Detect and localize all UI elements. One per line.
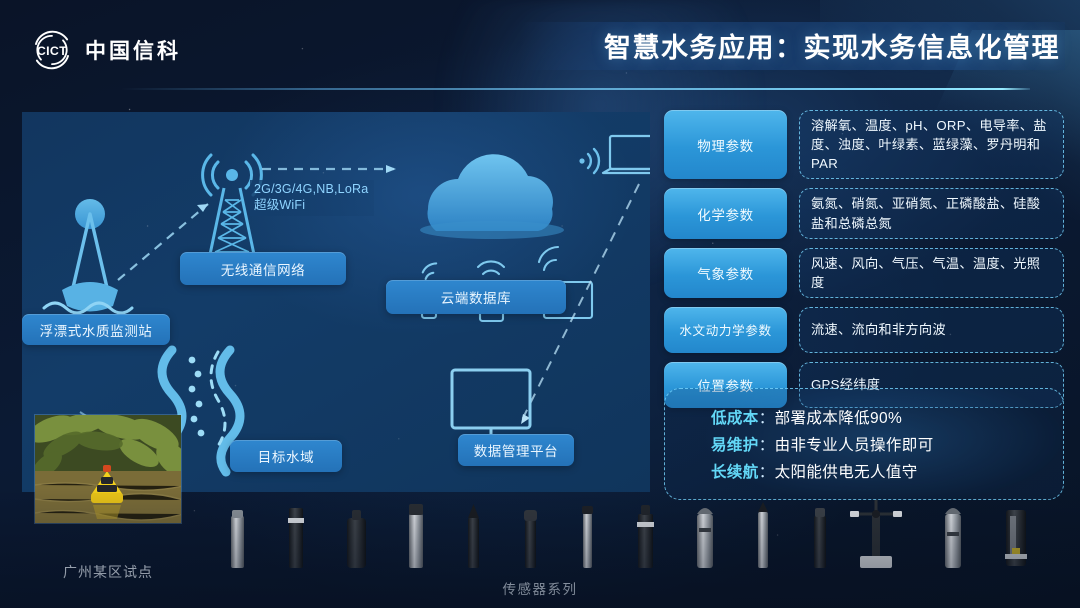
sensor-row-caption: 传感器系列 [0, 578, 1080, 598]
benefits-callout-box: 低成本 ： 部署成本降低90% 易维护 ： 由非专业人员操作即可 长续航 ： 太… [664, 388, 1064, 500]
parameter-row: 物理参数 溶解氧、温度、pH、ORP、电导率、盐度、浊度、叶绿素、蓝绿藻、罗丹明… [664, 110, 1064, 179]
parameter-row: 化学参数 氨氮、硝氮、亚硝氮、正磷酸盐、硅酸盐和总磷总氮 [664, 188, 1064, 238]
sensor-probe [814, 508, 826, 568]
sensor-probe [697, 508, 713, 568]
arrow-buoy-to-tower [197, 204, 208, 212]
sensor-probe [637, 505, 654, 568]
benefit-label-long-endurance: 长续航 [711, 460, 759, 482]
node-label-wireless-network[interactable]: 无线通信网络 [180, 252, 346, 285]
node-label-target-water[interactable]: 目标水域 [230, 440, 342, 472]
page-title: 智慧水务应用：实现水务信息化管理 [604, 26, 1060, 65]
parameter-value-chemical: 氨氮、硝氮、亚硝氮、正磷酸盐、硅酸盐和总磷总氮 [799, 188, 1064, 238]
parameter-value-hydrodynamic: 流速、流向和非方向波 [799, 307, 1064, 353]
laptop-icon [603, 136, 650, 173]
sensor-probe [347, 510, 366, 568]
benefit-label-low-cost: 低成本 [711, 406, 759, 428]
sensor-probe [582, 506, 593, 568]
svg-text:CICT: CICT [37, 44, 67, 58]
sensor-probe [945, 508, 961, 568]
monitor-icon [452, 370, 530, 444]
benefit-row-easy-maintenance: 易维护 ： 由非专业人员操作即可 [711, 433, 1063, 455]
field-trial-photo [34, 414, 182, 524]
network-tech-line-1: 2G/3G/4G,NB,LoRa [254, 182, 368, 196]
node-label-buoy-station[interactable]: 浮漂式水质监测站 [22, 314, 170, 345]
benefit-separator: ： [759, 433, 775, 455]
wifi-signal-icon [579, 149, 599, 173]
node-label-cloud-database[interactable]: 云端数据库 [386, 280, 566, 314]
sensor-probe [1005, 510, 1027, 566]
benefit-row-low-cost: 低成本 ： 部署成本降低90% [711, 406, 1063, 428]
benefit-value-long-endurance: 太阳能供电无人值守 [775, 460, 918, 482]
node-label-data-platform[interactable]: 数据管理平台 [458, 434, 574, 466]
parameter-key-meteorological[interactable]: 气象参数 [664, 248, 787, 298]
sensor-probe [758, 502, 768, 568]
parameter-row: 水文动力学参数 流速、流向和非方向波 [664, 307, 1064, 353]
benefit-separator: ： [759, 406, 775, 428]
network-tech-line-2: 超级WiFi [254, 198, 305, 212]
parameter-key-hydrodynamic[interactable]: 水文动力学参数 [664, 307, 787, 353]
sensor-probe [288, 508, 304, 568]
parameter-value-meteorological: 风速、风向、气压、气温、温度、光照度 [799, 248, 1064, 298]
cict-circular-logo-icon: CICT [30, 28, 74, 72]
benefit-value-easy-maintenance: 由非专业人员操作即可 [775, 433, 934, 455]
brand-logo: CICT 中国信科 [30, 28, 181, 72]
arrow-tower-to-cloud [386, 165, 396, 173]
benefit-label-easy-maintenance: 易维护 [711, 433, 759, 455]
parameter-table: 物理参数 溶解氧、温度、pH、ORP、电导率、盐度、浊度、叶绿素、蓝绿藻、罗丹明… [664, 110, 1064, 417]
benefit-row-long-endurance: 长续航 ： 太阳能供电无人值守 [711, 460, 1063, 482]
sensor-probe [231, 510, 244, 568]
benefit-separator: ： [759, 460, 775, 482]
network-tech-tag: 2G/3G/4G,NB,LoRa 超级WiFi [250, 180, 374, 216]
parameter-key-physical[interactable]: 物理参数 [664, 110, 787, 179]
parameter-key-chemical[interactable]: 化学参数 [664, 188, 787, 238]
parameter-value-physical: 溶解氧、温度、pH、ORP、电导率、盐度、浊度、叶绿素、蓝绿藻、罗丹明和PAR [799, 110, 1064, 179]
benefit-value-low-cost: 部署成本降低90% [775, 406, 903, 428]
sensor-probe [468, 504, 479, 568]
cloud-icon [420, 154, 564, 239]
sensor-probe [409, 504, 423, 568]
anemometer-icon [850, 500, 902, 568]
sensor-probe [524, 510, 537, 568]
buoy-icon [44, 199, 132, 327]
brand-logo-text: 中国信科 [85, 35, 181, 65]
page-header: CICT 中国信科 智慧水务应用：实现水务信息化管理 [0, 0, 1080, 90]
sensor-product-row [200, 492, 1080, 572]
header-divider [120, 88, 1030, 90]
parameter-row: 气象参数 风速、风向、气压、气温、温度、光照度 [664, 248, 1064, 298]
